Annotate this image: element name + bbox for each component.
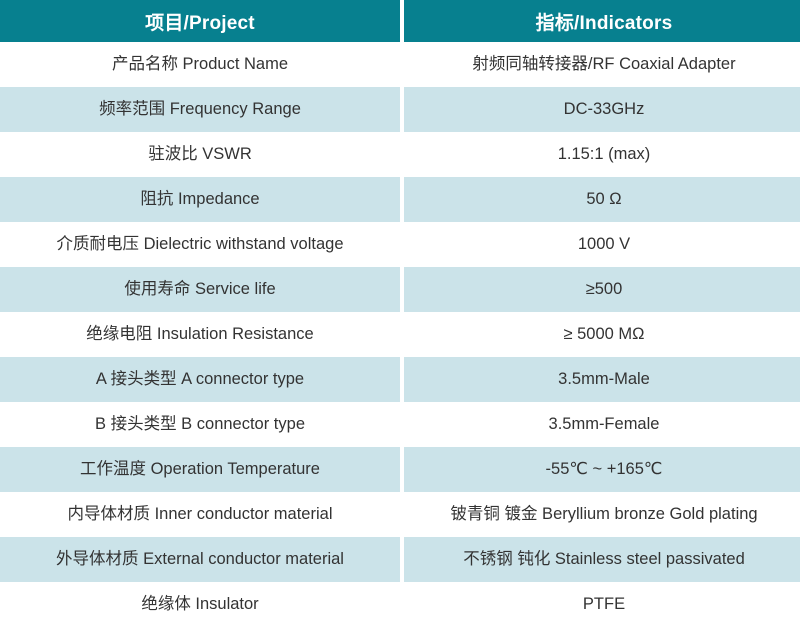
- cell-project: 内导体材质 Inner conductor material: [0, 492, 402, 537]
- cell-project: 阻抗 Impedance: [0, 177, 402, 222]
- cell-indicator: 不锈钢 钝化 Stainless steel passivated: [402, 537, 800, 582]
- cell-project: 介质耐电压 Dielectric withstand voltage: [0, 222, 402, 267]
- cell-indicator: PTFE: [402, 582, 800, 626]
- table-row: 工作温度 Operation Temperature-55℃ ~ +165℃: [0, 447, 800, 492]
- header-row: 项目/Project 指标/Indicators: [0, 0, 800, 42]
- cell-project: 绝缘电阻 Insulation Resistance: [0, 312, 402, 357]
- cell-indicator: 1.15:1 (max): [402, 132, 800, 177]
- cell-project: 产品名称 Product Name: [0, 42, 402, 87]
- table-row: 使用寿命 Service life≥500: [0, 267, 800, 312]
- cell-project: A 接头类型 A connector type: [0, 357, 402, 402]
- cell-project: 工作温度 Operation Temperature: [0, 447, 402, 492]
- cell-indicator: 3.5mm-Male: [402, 357, 800, 402]
- cell-indicator: 1000 V: [402, 222, 800, 267]
- table-row: 驻波比 VSWR1.15:1 (max): [0, 132, 800, 177]
- header-indicators: 指标/Indicators: [402, 0, 800, 42]
- table-row: A 接头类型 A connector type3.5mm-Male: [0, 357, 800, 402]
- specification-table: 项目/Project 指标/Indicators 产品名称 Product Na…: [0, 0, 800, 626]
- table-row: 产品名称 Product Name射频同轴转接器/RF Coaxial Adap…: [0, 42, 800, 87]
- table-row: 阻抗 Impedance50 Ω: [0, 177, 800, 222]
- cell-project: 绝缘体 Insulator: [0, 582, 402, 626]
- table-row: 外导体材质 External conductor material不锈钢 钝化 …: [0, 537, 800, 582]
- table-row: 频率范围 Frequency RangeDC-33GHz: [0, 87, 800, 132]
- cell-indicator: 铍青铜 镀金 Beryllium bronze Gold plating: [402, 492, 800, 537]
- table-row: 绝缘体 InsulatorPTFE: [0, 582, 800, 626]
- cell-project: B 接头类型 B connector type: [0, 402, 402, 447]
- cell-project: 使用寿命 Service life: [0, 267, 402, 312]
- cell-indicator: 3.5mm-Female: [402, 402, 800, 447]
- table-row: B 接头类型 B connector type3.5mm-Female: [0, 402, 800, 447]
- table-header: 项目/Project 指标/Indicators: [0, 0, 800, 42]
- cell-indicator: 射频同轴转接器/RF Coaxial Adapter: [402, 42, 800, 87]
- cell-indicator: -55℃ ~ +165℃: [402, 447, 800, 492]
- header-project: 项目/Project: [0, 0, 402, 42]
- table-row: 绝缘电阻 Insulation Resistance≥ 5000 MΩ: [0, 312, 800, 357]
- cell-indicator: DC-33GHz: [402, 87, 800, 132]
- cell-indicator: ≥500: [402, 267, 800, 312]
- cell-project: 频率范围 Frequency Range: [0, 87, 402, 132]
- cell-project: 驻波比 VSWR: [0, 132, 402, 177]
- cell-indicator: ≥ 5000 MΩ: [402, 312, 800, 357]
- table-row: 介质耐电压 Dielectric withstand voltage1000 V: [0, 222, 800, 267]
- cell-project: 外导体材质 External conductor material: [0, 537, 402, 582]
- cell-indicator: 50 Ω: [402, 177, 800, 222]
- table-row: 内导体材质 Inner conductor material铍青铜 镀金 Ber…: [0, 492, 800, 537]
- table-body: 产品名称 Product Name射频同轴转接器/RF Coaxial Adap…: [0, 42, 800, 626]
